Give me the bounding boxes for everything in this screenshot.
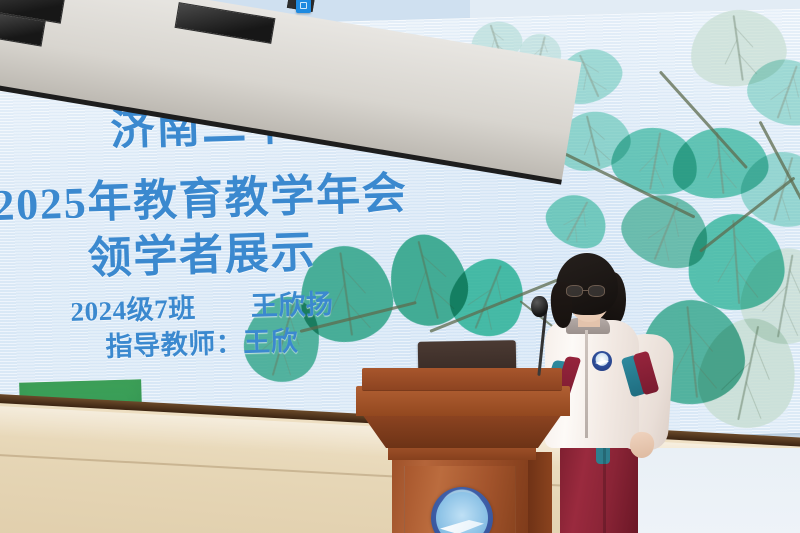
- leaf-shape: [733, 142, 800, 236]
- leaf-vein: [647, 224, 668, 239]
- leaf-vein: [583, 71, 587, 90]
- leaf-shape: [685, 211, 787, 313]
- leaf-vein: [654, 166, 665, 188]
- leaf-vein: [586, 116, 600, 166]
- leaf-vein: [707, 156, 720, 179]
- leaf-vein: [663, 236, 669, 261]
- presentation-photo: 济南二中 2025年教育教学年会 领学者展示 2024级7班 王欣扬 指导教师：…: [0, 0, 800, 533]
- leaf-vein: [692, 360, 717, 389]
- leaf-vein: [754, 343, 770, 380]
- leaf-vein: [746, 381, 762, 418]
- glasses-lens-right: [588, 285, 605, 297]
- lectern-slab: [356, 386, 570, 416]
- leaf-vein: [649, 132, 661, 189]
- leaf-vein: [793, 75, 800, 98]
- badge-bird-icon: [595, 360, 609, 365]
- leaf-vein: [429, 287, 454, 310]
- leaf-vein: [777, 65, 798, 118]
- glasses-icon: [566, 285, 612, 297]
- leaf-shape: [440, 247, 536, 346]
- leaf-vein: [686, 306, 697, 397]
- leaf-vein: [589, 125, 605, 140]
- glasses-lens-left: [566, 285, 583, 297]
- leaf-vein: [734, 235, 756, 263]
- leaf-vein: [414, 271, 426, 302]
- leaf-vein: [467, 289, 491, 306]
- leaf-vein: [773, 157, 792, 220]
- leaf-vein: [788, 169, 797, 195]
- leaf-vein: [575, 224, 578, 242]
- leaf-vein: [496, 277, 503, 305]
- leaf-vein: [579, 55, 599, 97]
- leaf-vein: [583, 209, 586, 227]
- leaf-vein: [789, 269, 800, 301]
- leaf-shape: [690, 309, 800, 437]
- leaf-stem: [559, 150, 695, 218]
- leaf-vein: [718, 252, 736, 282]
- leaf-stem: [759, 121, 800, 219]
- leaf-shape: [669, 123, 772, 203]
- leaf-vein: [583, 62, 599, 73]
- leaf-vein: [590, 79, 606, 90]
- leaf-vein: [639, 154, 656, 172]
- leaf-vein: [474, 265, 501, 329]
- leaf-vein: [738, 54, 757, 75]
- lectern-bevel: [362, 414, 562, 448]
- leaf-vein: [737, 325, 759, 420]
- leaf-vein: [566, 201, 588, 241]
- leaf-shape: [538, 184, 616, 257]
- leaf-vein: [718, 143, 735, 163]
- leaf-stem: [699, 176, 795, 252]
- leaf-shape: [607, 121, 703, 201]
- leaf-vein: [421, 255, 446, 278]
- lectern-top: [362, 368, 562, 390]
- leaf-vein: [762, 286, 787, 312]
- leaf-shape: [612, 182, 720, 280]
- leaf-vein: [658, 143, 669, 165]
- leaf-vein: [781, 195, 790, 221]
- screen-glyph-icon: [300, 2, 307, 9]
- school-badge: [592, 351, 612, 371]
- leaf-vein: [785, 97, 792, 120]
- leaf-vein: [770, 86, 789, 100]
- leaf-vein: [594, 145, 610, 160]
- leaf-vein: [733, 15, 744, 81]
- leaf-shape: [685, 4, 791, 93]
- leaf-shape: [739, 49, 800, 136]
- leaf-vein: [720, 168, 737, 188]
- leaf-shape: [734, 241, 800, 350]
- leaf-vein: [673, 213, 679, 238]
- leaf-vein: [673, 341, 692, 375]
- leaf-vein: [777, 254, 793, 337]
- leaf-vein: [724, 40, 737, 65]
- leaf-vein: [721, 362, 750, 390]
- leaf-vein: [764, 181, 785, 199]
- leaf-vein: [783, 303, 798, 335]
- leaf-vein: [732, 220, 739, 304]
- leaf-vein: [543, 42, 548, 54]
- jacket-zipper: [585, 330, 588, 438]
- leaf-vein: [716, 132, 724, 193]
- gooseneck-microphone: [531, 296, 548, 317]
- lectern-side-panel: [528, 452, 552, 533]
- projector-control-button[interactable]: [296, 0, 311, 13]
- leaf-vein: [563, 216, 579, 225]
- leaf-vein: [584, 135, 592, 155]
- leaf-vein: [417, 241, 438, 320]
- leaf-vein: [492, 31, 504, 41]
- leaf-vein: [735, 27, 754, 48]
- leaf-vein: [689, 323, 714, 352]
- presenter-pants-fold: [603, 448, 606, 533]
- leaf-vein: [485, 303, 492, 331]
- leaf-stem: [659, 70, 748, 168]
- leaf-vein: [736, 269, 758, 297]
- leaf-vein: [654, 202, 679, 260]
